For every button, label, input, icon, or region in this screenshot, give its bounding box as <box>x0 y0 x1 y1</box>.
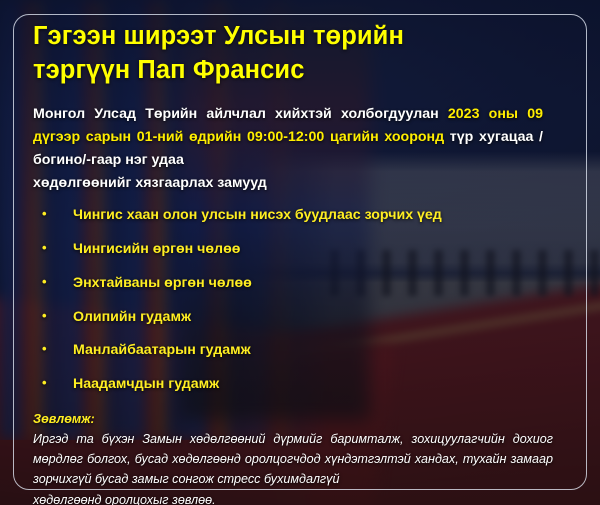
page-title: Гэгээн ширээт Улсын төрийн тэргүүн Пап Ф… <box>33 20 503 87</box>
list-item: Чингисийн өргөн чөлөө <box>42 241 570 259</box>
list-item: Чингис хаан олон улсын нисэх буудлаас зо… <box>42 207 570 225</box>
list-item: Олипийн гудамж <box>42 309 570 327</box>
recommendation-block: Зөвлөмж: Иргэд та бүхэн Замын хөдөлгөөни… <box>33 410 553 505</box>
recommendation-text: Иргэд та бүхэн Замын хөдөлгөөний дүрмийг… <box>33 429 553 505</box>
list-item: Манлайбаатарын гудамж <box>42 342 570 360</box>
list-item: Наадамчдын гудамж <box>42 376 570 394</box>
announcement-tail: хөдөлгөөнийг хязгаарлах замууд <box>33 172 543 195</box>
poster-content: Гэгээн ширээт Улсын төрийн тэргүүн Пап Ф… <box>0 0 600 505</box>
recommendation-body: Иргэд та бүхэн Замын хөдөлгөөний дүрмийг… <box>33 432 553 487</box>
recommendation-label: Зөвлөмж: <box>33 410 553 429</box>
announcement-lead: Монгол Улсад Төрийн айлчлал хийхтэй холб… <box>33 106 439 122</box>
recommendation-body-tail: хөдөлгөөнд оролцохыг зөвлөө. <box>33 490 553 505</box>
restricted-streets-list: Чингис хаан олон улсын нисэх буудлаас зо… <box>33 207 570 394</box>
announcement-poster: Гэгээн ширээт Улсын төрийн тэргүүн Пап Ф… <box>0 0 600 505</box>
list-item: Энхтайваны өргөн чөлөө <box>42 275 570 293</box>
announcement-paragraph: Монгол Улсад Төрийн айлчлал хийхтэй холб… <box>33 103 543 195</box>
